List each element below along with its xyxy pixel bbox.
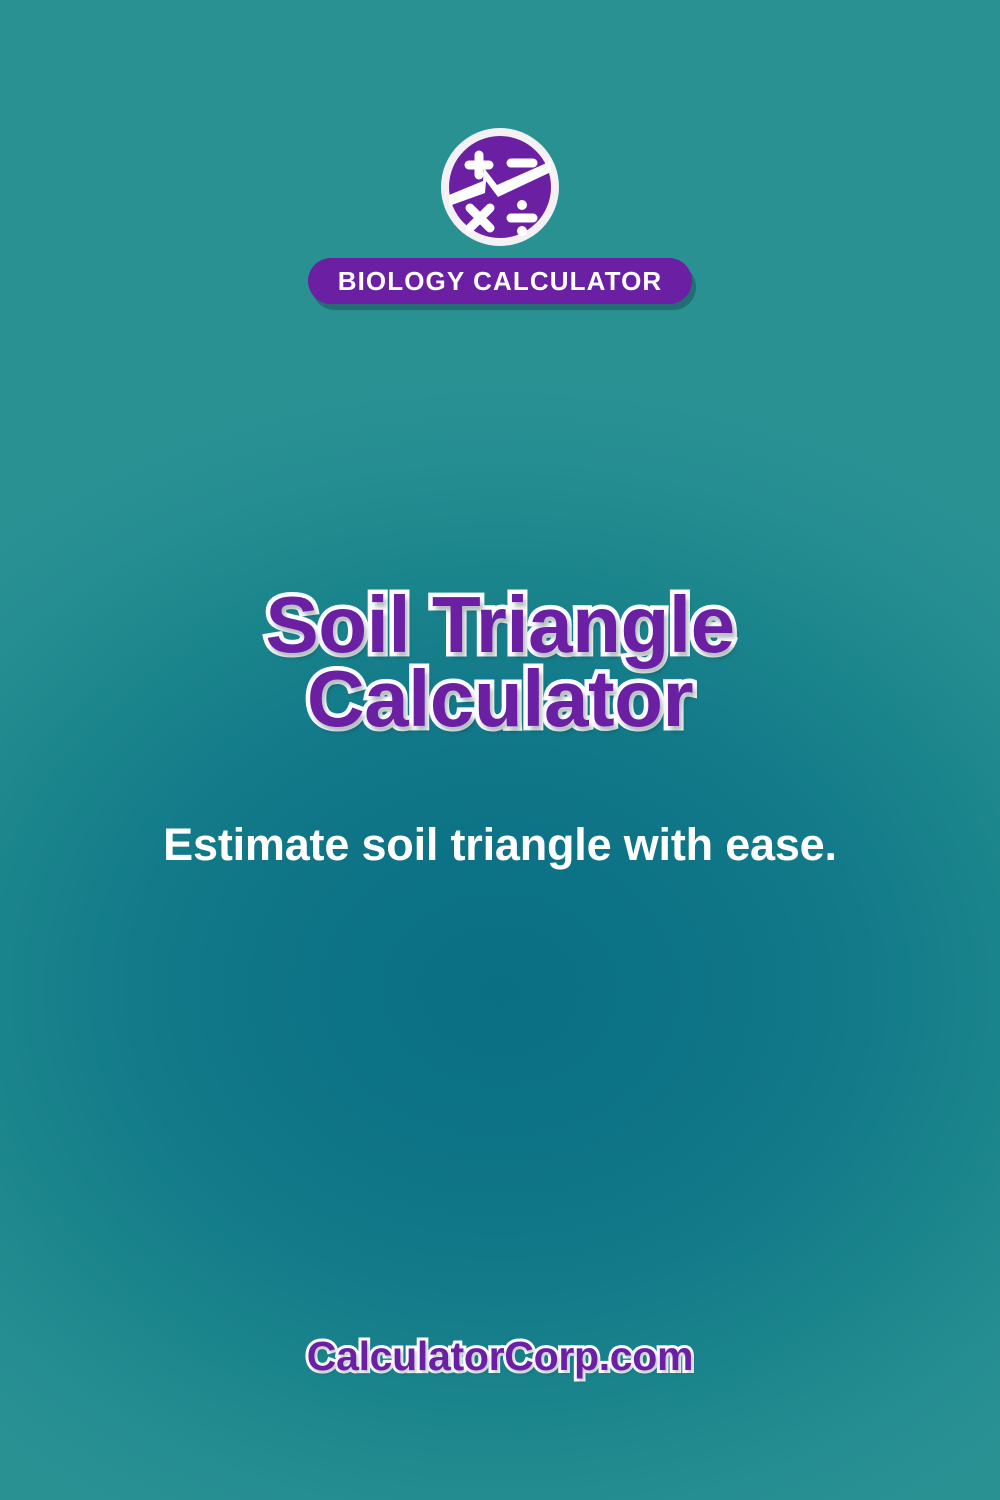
poster-canvas: BIOLOGY CALCULATOR Soil Triangle Calcula…	[0, 0, 1000, 1500]
footer-container: CalculatorCorp.com	[0, 1336, 1000, 1377]
page-subtitle-container: Estimate soil triangle with ease.	[100, 818, 900, 873]
page-title: Soil Triangle Calculator	[0, 588, 1000, 737]
category-badge-label: BIOLOGY CALCULATOR	[338, 268, 663, 294]
logo-container	[0, 125, 1000, 249]
calculator-logo-icon	[438, 125, 562, 249]
category-badge-container: BIOLOGY CALCULATOR	[0, 258, 1000, 304]
category-badge[interactable]: BIOLOGY CALCULATOR	[308, 258, 693, 304]
page-title-container: Soil Triangle Calculator	[0, 588, 1000, 737]
page-subtitle: Estimate soil triangle with ease.	[100, 818, 900, 873]
footer-website-url[interactable]: CalculatorCorp.com	[0, 1336, 1000, 1377]
